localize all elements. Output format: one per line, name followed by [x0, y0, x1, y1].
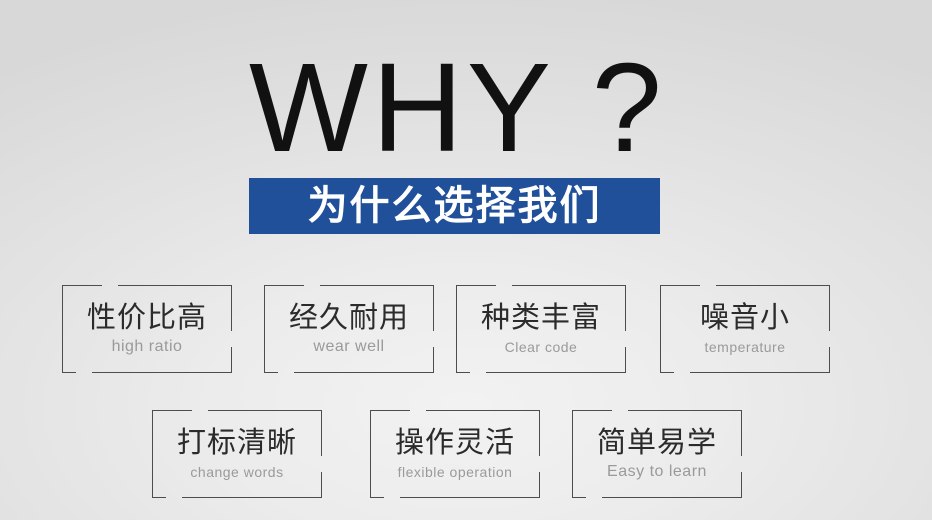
- feature-title-cn: 噪音小: [700, 300, 790, 334]
- feature-title-en: temperature: [705, 336, 786, 358]
- feature-card-6[interactable]: 操作灵活 flexible operation: [370, 410, 540, 498]
- feature-title-en: Clear code: [505, 336, 578, 358]
- feature-title-cn: 简单易学: [597, 425, 717, 459]
- feature-title-cn: 经久耐用: [289, 300, 409, 334]
- feature-card-2[interactable]: 经久耐用 wear well: [264, 285, 434, 373]
- feature-card-4[interactable]: 噪音小 temperature: [660, 285, 830, 373]
- page-title: WHY ?: [249, 38, 669, 178]
- feature-title-cn: 打标清晰: [177, 425, 297, 459]
- feature-title-cn: 种类丰富: [481, 300, 601, 334]
- feature-card-3[interactable]: 种类丰富 Clear code: [456, 285, 626, 373]
- feature-card-1[interactable]: 性价比高 high ratio: [62, 285, 232, 373]
- feature-title-cn: 操作灵活: [395, 425, 515, 459]
- feature-card-7[interactable]: 简单易学 Easy to learn: [572, 410, 742, 498]
- feature-title-en: wear well: [313, 336, 384, 358]
- feature-title-cn: 性价比高: [87, 300, 207, 334]
- subtitle-banner-text: 为什么选择我们: [308, 184, 602, 228]
- feature-card-5[interactable]: 打标清晰 change words: [152, 410, 322, 498]
- subtitle-banner: 为什么选择我们: [249, 178, 660, 234]
- feature-title-en: flexible operation: [398, 461, 513, 483]
- feature-title-en: high ratio: [112, 336, 183, 358]
- feature-title-en: change words: [190, 461, 283, 483]
- poster-canvas: WHY ? 为什么选择我们 性价比高 high ratio 经久耐用 wear …: [0, 0, 932, 520]
- feature-title-en: Easy to learn: [607, 461, 707, 483]
